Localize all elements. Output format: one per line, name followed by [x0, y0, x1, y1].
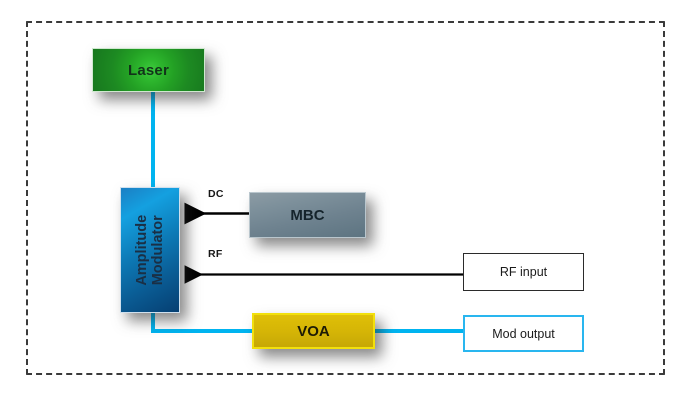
connection-label-dc: DC — [208, 188, 224, 200]
block-amplitude-modulator[interactable]: Amplitude Modulator — [120, 187, 180, 313]
block-mod-output[interactable]: Mod output — [463, 315, 584, 352]
block-amplitude-modulator-label-line-2: Modulator — [150, 215, 166, 286]
block-mbc-label: MBC — [290, 207, 324, 224]
block-rf-input-label: RF input — [500, 265, 547, 279]
optical-link-voa-to-mod-output — [372, 329, 466, 333]
block-amplitude-modulator-label: Amplitude Modulator — [134, 215, 166, 286]
block-rf-input[interactable]: RF input — [463, 253, 584, 291]
connection-label-rf: RF — [208, 248, 223, 260]
block-mod-output-label: Mod output — [492, 327, 555, 341]
block-amplitude-modulator-label-line-1: Amplitude — [134, 215, 150, 286]
block-voa-label: VOA — [297, 323, 330, 340]
block-laser[interactable]: Laser — [92, 48, 205, 92]
block-mbc[interactable]: MBC — [249, 192, 366, 238]
block-voa[interactable]: VOA — [252, 313, 375, 349]
block-laser-label: Laser — [128, 62, 169, 79]
optical-link-modulator-to-voa — [151, 329, 256, 333]
optical-link-laser-to-modulator — [151, 88, 155, 192]
diagram-canvas: Laser Amplitude Modulator MBC VOA RF inp… — [0, 0, 695, 401]
